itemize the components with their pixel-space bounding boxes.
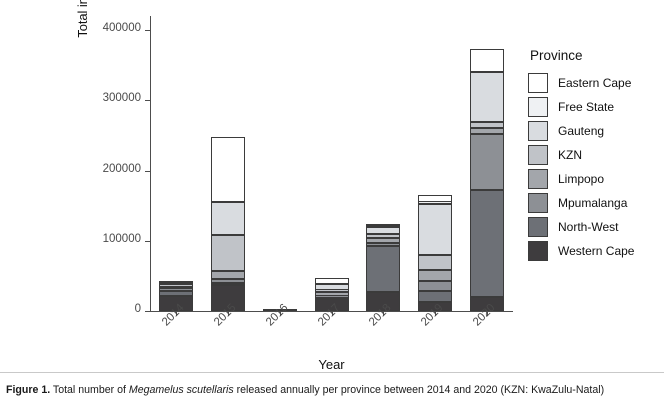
bar-segment[interactable] — [418, 291, 452, 302]
bar-segment[interactable] — [366, 224, 400, 227]
legend-label: Eastern Cape — [558, 76, 631, 90]
y-axis-tick-mark — [145, 30, 150, 31]
legend-items: Eastern CapeFree StateGautengKZNLimpopoM… — [528, 71, 660, 263]
legend-label: Gauteng — [558, 124, 604, 138]
bar-segment[interactable] — [418, 255, 452, 270]
y-axis-tick: 100000 — [0, 241, 150, 242]
legend-label: Western Cape — [558, 244, 634, 258]
y-axis-tick-label: 200000 — [103, 163, 141, 175]
bar-segment[interactable] — [470, 134, 504, 189]
bar-stack[interactable] — [315, 16, 349, 311]
bar-segment[interactable] — [211, 202, 245, 235]
bar-segment[interactable] — [211, 137, 245, 202]
bar-segment[interactable] — [470, 122, 504, 128]
legend-label: Mpumalanga — [558, 196, 627, 210]
figure-chart: Total insects released/year 010000020000… — [0, 0, 664, 372]
bar-segment[interactable] — [366, 227, 400, 234]
legend-item[interactable]: Free State — [528, 95, 660, 119]
legend: Province Eastern CapeFree StateGautengKZ… — [528, 48, 660, 263]
y-axis-tick-label: 400000 — [103, 22, 141, 34]
bar-segment[interactable] — [159, 291, 193, 296]
y-axis-tick-label: 0 — [135, 303, 141, 315]
legend-swatch — [528, 217, 548, 237]
y-axis-title-text: Total insects released/year — [72, 0, 94, 77]
y-axis-title: Total insects released/year — [72, 0, 94, 77]
y-axis-tick-label: 300000 — [103, 92, 141, 104]
legend-swatch — [528, 73, 548, 93]
caption-text-2: released annually per province between 2… — [234, 384, 604, 396]
bar-segment[interactable] — [315, 292, 349, 296]
caption-text-1: Total number of — [50, 384, 129, 396]
bar-segment[interactable] — [470, 128, 504, 134]
bar-stack[interactable] — [418, 16, 452, 311]
legend-item[interactable]: Mpumalanga — [528, 191, 660, 215]
y-axis-line — [150, 16, 151, 312]
bar-segment[interactable] — [366, 234, 400, 238]
bar-segment[interactable] — [418, 195, 452, 202]
legend-swatch — [528, 145, 548, 165]
y-axis-tick-label: 100000 — [103, 233, 141, 245]
figure-caption: Figure 1. Total number of Megamelus scut… — [6, 383, 658, 397]
bar-stack[interactable] — [470, 16, 504, 311]
y-axis-tick: 400000 — [0, 30, 150, 31]
legend-label: Free State — [558, 100, 614, 114]
bar-stack[interactable] — [366, 16, 400, 311]
bar-segment[interactable] — [366, 246, 400, 292]
bar-segment[interactable] — [470, 72, 504, 122]
legend-item[interactable]: Limpopo — [528, 167, 660, 191]
legend-item[interactable]: Gauteng — [528, 119, 660, 143]
legend-swatch — [528, 241, 548, 261]
bar-segment[interactable] — [211, 235, 245, 272]
bar-segment[interactable] — [418, 204, 452, 255]
y-axis-tick-mark — [145, 171, 150, 172]
caption-figure-number: Figure 1. — [6, 384, 50, 396]
legend-item[interactable]: Eastern Cape — [528, 71, 660, 95]
legend-label: Limpopo — [558, 172, 604, 186]
legend-swatch — [528, 193, 548, 213]
bar-segment[interactable] — [470, 49, 504, 72]
legend-item[interactable]: KZN — [528, 143, 660, 167]
bar-segment[interactable] — [366, 238, 400, 243]
bar-segment[interactable] — [211, 271, 245, 279]
bar-segment[interactable] — [418, 281, 452, 290]
y-axis-tick-mark — [145, 311, 150, 312]
bar-segment[interactable] — [315, 284, 349, 290]
caption-species-name: Megamelus scutellaris — [129, 384, 234, 396]
bar-segment[interactable] — [315, 278, 349, 284]
legend-swatch — [528, 121, 548, 141]
legend-label: North-West — [558, 220, 618, 234]
legend-swatch — [528, 169, 548, 189]
legend-swatch — [528, 97, 548, 117]
y-axis-tick: 0 — [0, 311, 150, 312]
legend-item[interactable]: North-West — [528, 215, 660, 239]
bar-stack[interactable] — [159, 16, 193, 311]
bar-stack[interactable] — [211, 16, 245, 311]
y-axis-tick: 200000 — [0, 171, 150, 172]
y-axis-tick-mark — [145, 100, 150, 101]
bar-segment[interactable] — [159, 281, 193, 284]
bar-segment[interactable] — [418, 270, 452, 281]
bar-segment[interactable] — [366, 243, 400, 247]
x-axis-title: Year — [150, 357, 513, 372]
y-axis-tick: 300000 — [0, 100, 150, 101]
bar-stack[interactable] — [263, 16, 297, 311]
bar-segment[interactable] — [470, 190, 504, 297]
caption-divider — [0, 372, 664, 373]
bar-segment[interactable] — [159, 287, 193, 290]
legend-title: Province — [530, 48, 660, 63]
bar-segment[interactable] — [211, 279, 245, 283]
y-axis-tick-mark — [145, 241, 150, 242]
legend-item[interactable]: Western Cape — [528, 239, 660, 263]
legend-label: KZN — [558, 148, 582, 162]
